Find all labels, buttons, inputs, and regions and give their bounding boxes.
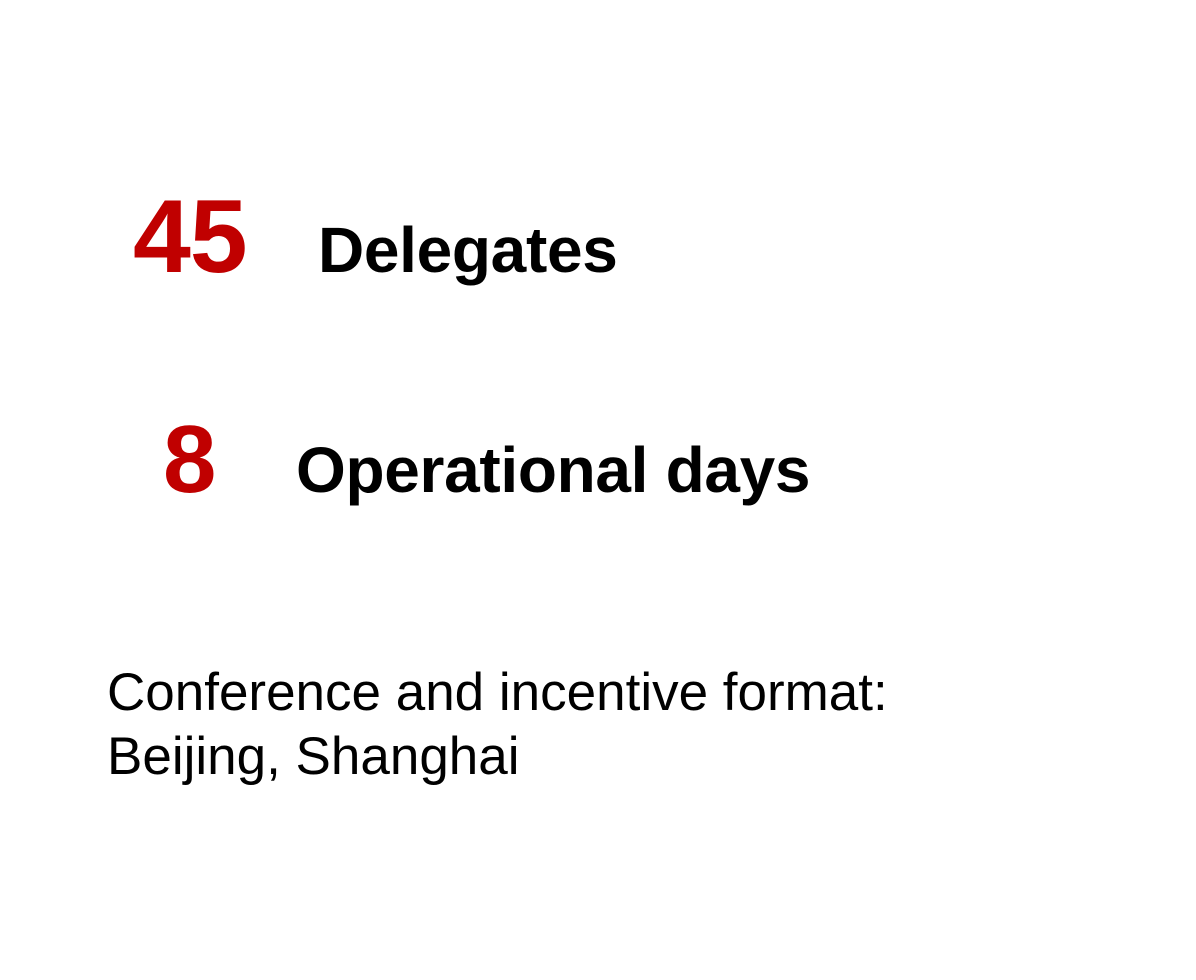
stat-delegates-label: Delegates <box>318 218 618 282</box>
stat-delegates: 45 Delegates <box>108 185 618 289</box>
description-line-2: Beijing, Shanghai <box>107 725 967 789</box>
description-line-1: Conference and incentive format: <box>107 661 967 725</box>
description-paragraph: Conference and incentive format: Beijing… <box>107 661 967 789</box>
stat-operational-days: 8 Operational days <box>108 412 810 508</box>
stat-delegates-value: 45 <box>108 185 278 289</box>
stat-operational-days-label: Operational days <box>296 438 810 502</box>
slide-canvas: 45 Delegates 8 Operational days Conferen… <box>0 0 1196 980</box>
stat-operational-days-value: 8 <box>108 412 278 508</box>
